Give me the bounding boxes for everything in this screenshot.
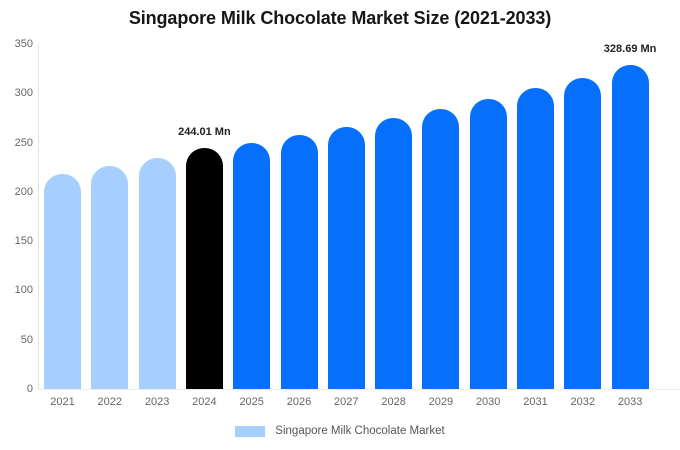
x-axis-tick: 2024 bbox=[186, 396, 223, 408]
bar-value-label-2024: 244.01 Mn bbox=[178, 126, 231, 138]
chart-title: Singapore Milk Chocolate Market Size (20… bbox=[0, 8, 680, 29]
bar-slot bbox=[44, 44, 81, 389]
bar-2032[interactable] bbox=[564, 78, 601, 389]
bar-2033[interactable] bbox=[612, 65, 649, 389]
bar-2030[interactable] bbox=[470, 99, 507, 389]
x-axis-tick: 2028 bbox=[375, 396, 412, 408]
bar-2023[interactable] bbox=[139, 158, 176, 389]
y-axis-tick: 50 bbox=[3, 334, 33, 346]
bar-2031[interactable] bbox=[517, 88, 554, 389]
bar-value-label-2033: 328.69 Mn bbox=[604, 43, 657, 55]
bar-slot bbox=[139, 44, 176, 389]
y-axis-tick: 200 bbox=[3, 186, 33, 198]
x-axis-tick: 2021 bbox=[44, 396, 81, 408]
x-axis-tick: 2022 bbox=[91, 396, 128, 408]
bar-slot bbox=[470, 44, 507, 389]
bar-slot bbox=[612, 44, 649, 389]
y-axis-tick: 350 bbox=[3, 38, 33, 50]
bar-2026[interactable] bbox=[281, 135, 318, 389]
bar-slot bbox=[375, 44, 412, 389]
bar-slot bbox=[564, 44, 601, 389]
bar-2024[interactable] bbox=[186, 148, 223, 389]
x-axis-tick: 2029 bbox=[422, 396, 459, 408]
chart-legend: Singapore Milk Chocolate Market bbox=[0, 425, 680, 437]
bar-2029[interactable] bbox=[422, 109, 459, 389]
y-axis-tick-labels: 050100150200250300350 bbox=[0, 0, 33, 450]
x-axis-tick: 2030 bbox=[470, 396, 507, 408]
bar-2021[interactable] bbox=[44, 174, 81, 389]
y-axis-tick: 250 bbox=[3, 137, 33, 149]
y-axis-tick: 150 bbox=[3, 235, 33, 247]
bar-chart: Singapore Milk Chocolate Market Size (20… bbox=[0, 0, 680, 450]
plot-area bbox=[38, 44, 680, 389]
bar-slot bbox=[186, 44, 223, 389]
x-axis-tick: 2033 bbox=[612, 396, 649, 408]
x-axis-line bbox=[38, 389, 680, 390]
y-axis-tick: 300 bbox=[3, 87, 33, 99]
bar-slot bbox=[91, 44, 128, 389]
x-axis-tick: 2026 bbox=[281, 396, 318, 408]
bar-2022[interactable] bbox=[91, 166, 128, 389]
y-axis-tick: 0 bbox=[3, 383, 33, 395]
bar-slot bbox=[328, 44, 365, 389]
legend-swatch bbox=[235, 426, 265, 437]
bar-2025[interactable] bbox=[233, 143, 270, 389]
x-axis-tick: 2027 bbox=[328, 396, 365, 408]
bar-2027[interactable] bbox=[328, 127, 365, 389]
legend-label: Singapore Milk Chocolate Market bbox=[275, 425, 444, 437]
bar-2028[interactable] bbox=[375, 118, 412, 389]
x-axis-tick: 2023 bbox=[139, 396, 176, 408]
bar-slot bbox=[281, 44, 318, 389]
bar-slot bbox=[422, 44, 459, 389]
x-axis-tick: 2032 bbox=[564, 396, 601, 408]
bar-slot bbox=[517, 44, 554, 389]
bar-slot bbox=[233, 44, 270, 389]
y-axis-tick: 100 bbox=[3, 284, 33, 296]
x-axis-tick: 2025 bbox=[233, 396, 270, 408]
x-axis-tick: 2031 bbox=[517, 396, 554, 408]
